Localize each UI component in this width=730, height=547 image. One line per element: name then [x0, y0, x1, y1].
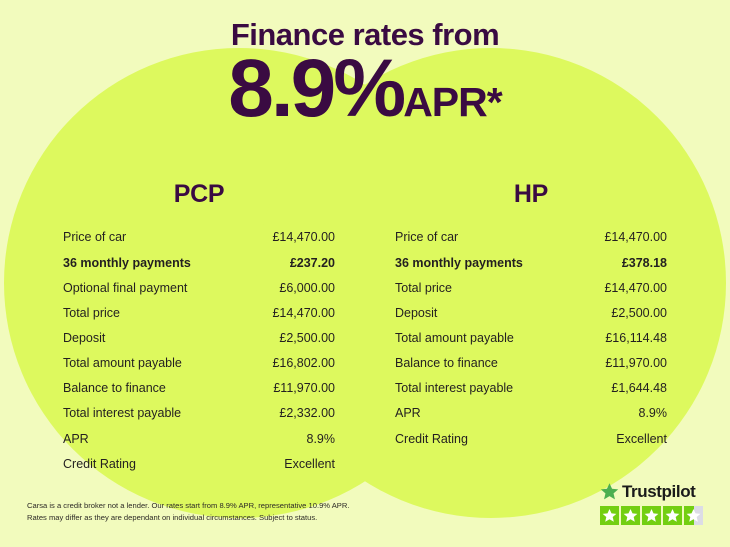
- disclaimer-line-2: Rates may differ as they are dependant o…: [27, 512, 447, 525]
- rating-star-1: [600, 506, 619, 525]
- row-value: £14,470.00: [272, 306, 335, 320]
- headline-rate-value: 8.9%: [228, 43, 403, 134]
- headline-rate-suffix: APR*: [403, 79, 502, 125]
- row-value: £11,970.00: [605, 356, 667, 370]
- row-label: Total price: [395, 281, 452, 295]
- table-row: Total price £14,470.00: [387, 275, 675, 300]
- plan-title-pcp: PCP: [55, 180, 343, 209]
- row-value: £2,500.00: [279, 331, 335, 345]
- row-label: Total interest payable: [63, 406, 181, 420]
- row-label: APR: [395, 406, 421, 420]
- disclaimer-line-1: Carsa is a credit broker not a lender. O…: [27, 500, 447, 513]
- table-row: Balance to finance £11,970.00: [387, 351, 675, 376]
- plan-pcp: PCP Price of car £14,470.00 36 monthly p…: [55, 180, 343, 477]
- row-label: Balance to finance: [395, 356, 498, 370]
- row-value: £2,500.00: [611, 306, 667, 320]
- table-row: Total interest payable £1,644.48: [387, 376, 675, 401]
- row-label: 36 monthly payments: [395, 256, 523, 270]
- row-label: Price of car: [63, 230, 126, 244]
- table-row: 36 monthly payments £378.18: [387, 250, 675, 275]
- table-row: Total amount payable £16,802.00: [55, 351, 343, 376]
- trustpilot-rating-stars: [600, 506, 710, 525]
- row-value: £6,000.00: [279, 281, 335, 295]
- row-label: Total price: [63, 306, 120, 320]
- rating-star-5-partial: [684, 506, 703, 525]
- row-value: Excellent: [284, 457, 335, 471]
- trustpilot-wordmark: Trustpilot: [622, 483, 695, 500]
- trustpilot-star-icon: [600, 482, 619, 501]
- plan-hp: HP Price of car £14,470.00 36 monthly pa…: [387, 180, 675, 477]
- disclaimer: Carsa is a credit broker not a lender. O…: [27, 500, 447, 525]
- row-value: 8.9%: [307, 432, 336, 446]
- table-row: 36 monthly payments £237.20: [55, 250, 343, 275]
- table-row: Total price £14,470.00: [55, 300, 343, 325]
- table-row: APR 8.9%: [55, 426, 343, 451]
- plan-rows-pcp: Price of car £14,470.00 36 monthly payme…: [55, 225, 343, 477]
- row-label: APR: [63, 432, 89, 446]
- trustpilot-logo: Trustpilot: [600, 480, 710, 502]
- table-row: Price of car £14,470.00: [55, 225, 343, 250]
- row-label: Price of car: [395, 230, 458, 244]
- plan-title-hp: HP: [387, 180, 675, 209]
- row-label: Total amount payable: [395, 331, 514, 345]
- plan-rows-hp: Price of car £14,470.00 36 monthly payme…: [387, 225, 675, 451]
- row-value: £11,970.00: [273, 381, 335, 395]
- row-label: Total interest payable: [395, 381, 513, 395]
- row-value: £14,470.00: [604, 281, 667, 295]
- row-value: Excellent: [616, 432, 667, 446]
- row-value: £16,802.00: [272, 356, 335, 370]
- row-value: £378.18: [622, 256, 667, 270]
- table-row: Credit Rating Excellent: [387, 426, 675, 451]
- row-value: £14,470.00: [604, 230, 667, 244]
- table-row: Credit Rating Excellent: [55, 451, 343, 476]
- headline-rate-block: 8.9%APR*: [0, 48, 730, 130]
- row-label: Deposit: [63, 331, 105, 345]
- row-label: Credit Rating: [395, 432, 468, 446]
- row-label: Total amount payable: [63, 356, 182, 370]
- row-value: £2,332.00: [279, 406, 335, 420]
- row-label: Balance to finance: [63, 381, 166, 395]
- table-row: Total interest payable £2,332.00: [55, 401, 343, 426]
- table-row: Balance to finance £11,970.00: [55, 376, 343, 401]
- finance-tables: PCP Price of car £14,470.00 36 monthly p…: [0, 180, 730, 477]
- row-label: Deposit: [395, 306, 437, 320]
- table-row: Deposit £2,500.00: [387, 300, 675, 325]
- table-row: Total amount payable £16,114.48: [387, 326, 675, 351]
- finance-rates-poster: Finance rates from 8.9%APR* PCP Price of…: [0, 0, 730, 547]
- row-value: £237.20: [290, 256, 335, 270]
- row-label: Credit Rating: [63, 457, 136, 471]
- rating-star-2: [621, 506, 640, 525]
- row-value: 8.9%: [639, 406, 668, 420]
- table-row: APR 8.9%: [387, 401, 675, 426]
- row-value: £16,114.48: [605, 331, 667, 345]
- poster-content: Finance rates from 8.9%APR* PCP Price of…: [0, 0, 730, 547]
- rating-star-4: [663, 506, 682, 525]
- row-label: Optional final payment: [63, 281, 187, 295]
- rating-star-3: [642, 506, 661, 525]
- table-row: Price of car £14,470.00: [387, 225, 675, 250]
- row-value: £1,644.48: [611, 381, 667, 395]
- table-row: Deposit £2,500.00: [55, 326, 343, 351]
- table-row: Optional final payment £6,000.00: [55, 275, 343, 300]
- row-value: £14,470.00: [272, 230, 335, 244]
- trustpilot-widget[interactable]: Trustpilot: [600, 480, 710, 525]
- row-label: 36 monthly payments: [63, 256, 191, 270]
